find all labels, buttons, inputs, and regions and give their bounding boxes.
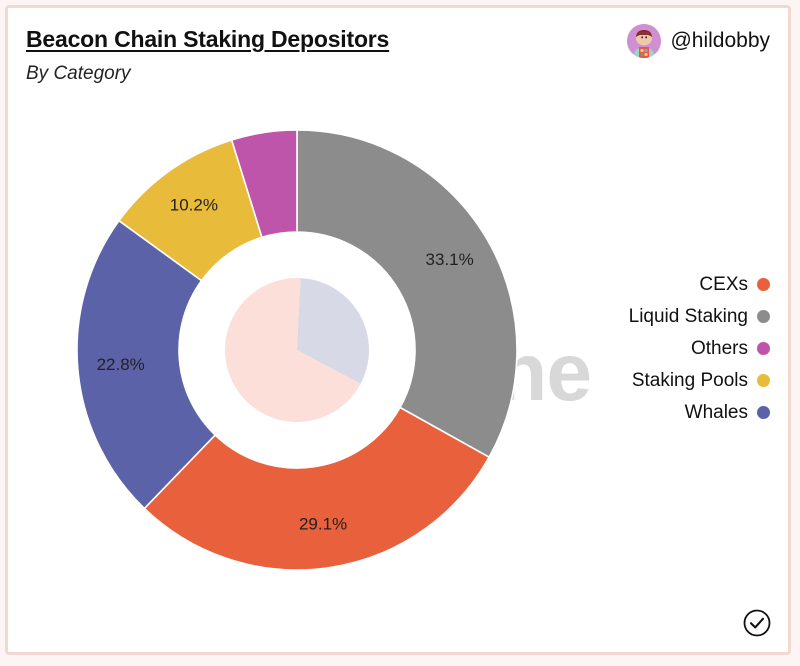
check-circle-icon[interactable] [742, 608, 772, 638]
legend-color-swatch [757, 342, 770, 355]
legend-color-swatch [757, 310, 770, 323]
legend-item[interactable]: Liquid Staking [629, 302, 770, 331]
chart-card: Beacon Chain Staking Depositors By Categ… [5, 5, 791, 655]
legend-color-swatch [757, 406, 770, 419]
inner-mini-pie [225, 278, 369, 422]
slice-value-label: 22.8% [97, 355, 145, 374]
legend-item[interactable]: Others [691, 334, 770, 363]
legend-item-label: CEXs [699, 274, 748, 296]
slice-value-label: 29.1% [299, 515, 347, 534]
legend-color-swatch [757, 374, 770, 387]
legend-item-label: Liquid Staking [629, 306, 748, 328]
legend-item-label: Others [691, 338, 748, 360]
legend-item[interactable]: CEXs [699, 270, 770, 299]
slice-value-label: 10.2% [170, 196, 218, 215]
legend-item[interactable]: Staking Pools [632, 366, 770, 395]
legend-item[interactable]: Whales [685, 398, 770, 427]
chart-legend: CEXsLiquid StakingOthersStaking PoolsWha… [629, 270, 770, 427]
slice-value-label: 33.1% [426, 250, 474, 269]
legend-color-swatch [757, 278, 770, 291]
legend-item-label: Whales [685, 402, 748, 424]
legend-item-label: Staking Pools [632, 370, 748, 392]
